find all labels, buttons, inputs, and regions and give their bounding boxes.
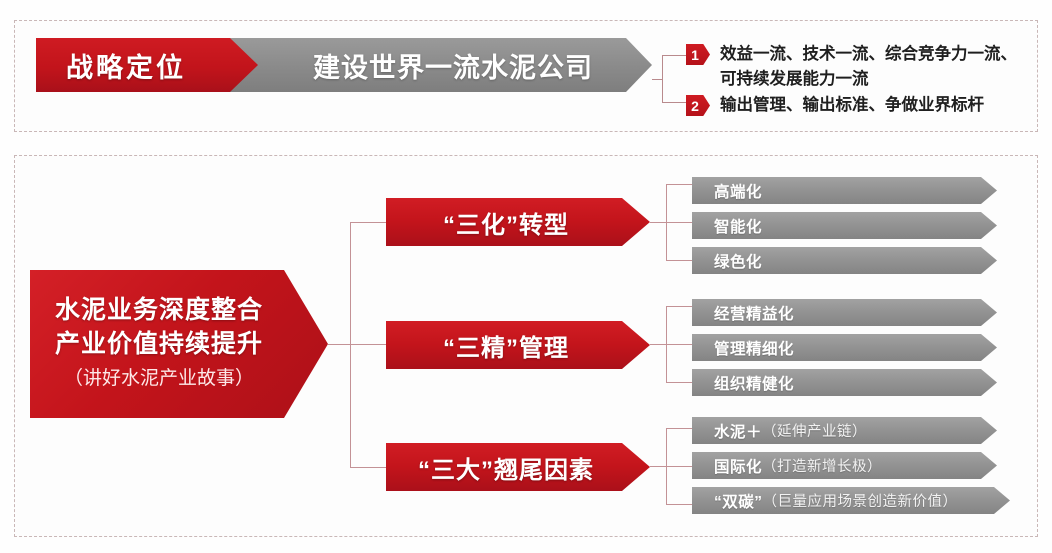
leaf-item-note: （巨量应用场景创造新价值） <box>763 490 958 511</box>
strategy-positioning-tag: 战略定位 <box>36 38 258 92</box>
branch-node-label: “三精”管理 <box>443 328 569 363</box>
root-node-line-1: 水泥业务深度整合 <box>55 293 263 327</box>
leaf-item: 高端化 <box>692 177 997 204</box>
connector-branch-1 <box>662 55 686 56</box>
list-item: 1 效益一流、技术一流、综合竞争力一流、 可持续发展能力一流 <box>686 42 1017 92</box>
connector-branch-3 <box>666 260 692 261</box>
leaf-item-label: 绿色化 <box>714 250 762 272</box>
connector-branch-2 <box>662 102 686 103</box>
connector-branch-3 <box>666 504 692 505</box>
branch-node-label: “三大”翘尾因素 <box>418 450 594 485</box>
branch-items-connector <box>650 184 692 261</box>
strategy-positioning-tag-label: 战略定位 <box>66 46 186 85</box>
bullet-text: 效益一流、技术一流、综合竞争力一流、 可持续发展能力一流 <box>720 42 1017 92</box>
leaf-item-label: 智能化 <box>714 215 762 237</box>
leaf-item: 经营精益化 <box>692 299 997 326</box>
strategy-title-text: 建设世界一流水泥公司 <box>313 46 593 85</box>
leaf-item-label: 国际化 <box>714 455 762 477</box>
leaf-item: 组织精健化 <box>692 369 997 396</box>
leaf-item-label: 水泥＋ <box>714 420 762 442</box>
leaf-item-note: （打造新增长极） <box>762 455 882 476</box>
bullet-number-badge: 1 <box>686 44 710 65</box>
connector-branch-1 <box>666 428 692 429</box>
branch-node-sanda-tail-factors: “三大”翘尾因素 <box>386 443 650 491</box>
leaf-item-label: 管理精细化 <box>714 337 794 359</box>
connector-branch-1 <box>666 184 692 185</box>
bullet-number-badge: 2 <box>686 95 710 116</box>
root-node-cement-business: 水泥业务深度整合 产业价值持续提升 （讲好水泥产业故事） <box>30 270 328 418</box>
connector-branch-3 <box>666 382 692 383</box>
leaf-item: 管理精细化 <box>692 334 997 361</box>
connector-stem <box>650 466 666 467</box>
root-node-line-2: 产业价值持续提升 <box>55 327 263 361</box>
leaf-item: 绿色化 <box>692 247 997 274</box>
leaf-item: 国际化 （打造新增长极） <box>692 452 997 479</box>
branch-node-sanjing-management: “三精”管理 <box>386 321 650 369</box>
leaf-item-label: “双碳” <box>714 490 763 512</box>
diagram-canvas: 建设世界一流水泥公司 战略定位 1 效益一流、技术一流、综合竞争力一流、 可持续… <box>0 0 1052 553</box>
connector-branch-1 <box>666 306 692 307</box>
header-bracket-connector <box>652 55 686 103</box>
strategy-title-banner: 建设世界一流水泥公司 <box>228 38 652 92</box>
connector-branch-2 <box>666 222 692 223</box>
root-node-line-3: （讲好水泥产业故事） <box>64 363 254 395</box>
leaf-item-label: 经营精益化 <box>714 302 794 324</box>
connector-stem <box>650 222 666 223</box>
connector-branch-2 <box>666 466 692 467</box>
branch-items-connector <box>650 428 692 505</box>
leaf-item: 水泥＋ （延伸产业链） <box>692 417 997 444</box>
leaf-item-label: 高端化 <box>714 180 762 202</box>
leaf-item-note: （延伸产业链） <box>762 420 867 441</box>
bullet-text: 输出管理、输出标准、争做业界标杆 <box>720 93 984 118</box>
branch-node-label: “三化”转型 <box>443 205 569 240</box>
leaf-item: “双碳” （巨量应用场景创造新价值） <box>692 487 1010 514</box>
leaf-item-label: 组织精健化 <box>714 372 794 394</box>
leaf-item: 智能化 <box>692 212 997 239</box>
list-item: 2 输出管理、输出标准、争做业界标杆 <box>686 93 984 118</box>
connector-spine <box>662 55 663 103</box>
connector-stem <box>650 344 666 345</box>
connector-branch-2 <box>666 344 692 345</box>
branch-node-sanhua-transformation: “三化”转型 <box>386 198 650 246</box>
branch-items-connector <box>650 306 692 383</box>
